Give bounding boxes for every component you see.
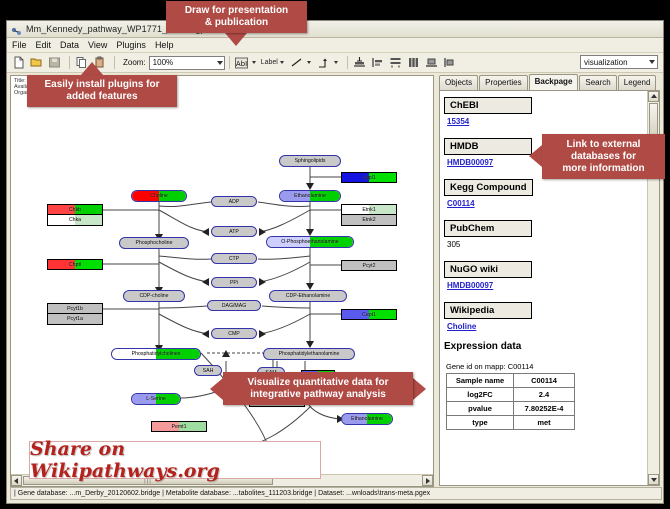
node-cdp-choline[interactable]: CDP-choline: [123, 290, 185, 302]
callout-plugins-line2: added features: [66, 91, 137, 103]
toolbar-separator-3: [229, 56, 230, 69]
node-label: Choline: [150, 193, 168, 199]
chevron-down-icon[interactable]: [649, 60, 655, 64]
node-pcyt1b[interactable]: Pcyt1b: [47, 303, 103, 314]
interaction-tool-group[interactable]: [316, 55, 338, 70]
chevron-down-icon[interactable]: [217, 61, 223, 65]
node-etnk2[interactable]: Etnk2: [341, 215, 397, 226]
table-row: Sample name C00114: [447, 374, 575, 388]
callout-draw-arrow: [225, 33, 247, 46]
zoom-label: Zoom:: [123, 58, 146, 67]
callout-draw: Draw for presentation & publication: [166, 1, 307, 33]
toolbar-separator-2: [114, 56, 115, 69]
align-center-icon[interactable]: [352, 55, 367, 70]
label-tool-label: Label: [261, 59, 278, 66]
node-sah[interactable]: SAH: [194, 365, 222, 376]
pathway-canvas[interactable]: Title: Availa Organi: [10, 75, 434, 487]
menu-item-data[interactable]: Data: [60, 40, 79, 50]
callout-plugins-line1: Easily install plugins for: [44, 79, 159, 91]
node-ppi[interactable]: PPi: [211, 277, 257, 288]
node-label: SAH: [203, 368, 214, 374]
node-label: Phosphatidylethanolamine: [279, 351, 340, 357]
cell-value: met: [514, 416, 575, 430]
node-label: L-Serine: [146, 396, 166, 402]
pathvisio-icon: [11, 24, 22, 35]
tab-backpage[interactable]: Backpage: [529, 74, 579, 90]
callout-draw-line1: Draw for presentation: [185, 5, 288, 17]
link-chebi[interactable]: 15354: [447, 117, 644, 126]
pathway-drawing: Title: Availa Organi: [11, 76, 433, 486]
cell-key: pvalue: [447, 402, 514, 416]
align-widths-icon[interactable]: [406, 55, 421, 70]
node-label: Pemt1: [172, 424, 187, 430]
node-label: Pcyt1b: [67, 306, 83, 312]
callout-plugins-arrow: [81, 62, 103, 75]
table-row: log2FC 2.4: [447, 388, 575, 402]
node-choline[interactable]: Choline: [131, 190, 187, 202]
scroll-up-arrow[interactable]: [648, 91, 659, 102]
value-pubchem: 305: [447, 240, 644, 249]
node-label: CTP: [229, 256, 239, 262]
callout-link-line1: Link to external: [567, 139, 641, 151]
callout-draw-line2: & publication: [205, 17, 268, 29]
zoom-input[interactable]: 100%: [149, 56, 225, 70]
node-adp[interactable]: ADP: [211, 196, 257, 207]
node-atp[interactable]: ATP: [211, 226, 257, 237]
status-text: | Gene database: ...m_Derby_20120602.bri…: [14, 490, 430, 497]
node-label: ADP: [229, 199, 240, 205]
node-pcyt1a[interactable]: Pcyt1a: [47, 314, 103, 325]
interaction-tool-icon[interactable]: [316, 55, 331, 70]
node-label: CMP: [228, 331, 240, 337]
distribute-horizontal-icon[interactable]: [388, 55, 403, 70]
node-label: Phosphatidylcholines: [132, 351, 181, 357]
node-label: DAG/MAG: [222, 303, 247, 309]
callout-share-text: Share on Wikipathways.org: [30, 438, 320, 482]
node-l-serine-left[interactable]: L-Serine: [131, 393, 181, 405]
callout-share: Share on Wikipathways.org: [29, 441, 321, 479]
node-label: Ethanolamine: [351, 416, 383, 422]
cell-key: Sample name: [447, 374, 514, 388]
link-nugo-wiki[interactable]: HMDB00097: [447, 281, 644, 290]
section-header-kegg-compound: Kegg Compound: [444, 179, 533, 196]
node-phosphatidylethanolamine[interactable]: Phosphatidylethanolamine: [263, 348, 355, 360]
save-icon[interactable]: [47, 55, 62, 70]
label-tool-group[interactable]: Label: [261, 59, 284, 66]
menu-item-help[interactable]: Help: [155, 40, 174, 50]
toolbar-separator-1: [69, 56, 70, 69]
chevron-down-icon[interactable]: [280, 61, 284, 64]
text-tool-group[interactable]: AbI: [234, 55, 256, 70]
toolbar: Zoom: 100% AbI Label: [7, 53, 663, 73]
node-label: CDP-Ethanolamine: [286, 293, 330, 299]
tab-objects[interactable]: Objects: [439, 75, 478, 90]
node-etnk1[interactable]: Etnk1: [341, 204, 397, 215]
chevron-down-icon[interactable]: [252, 61, 256, 64]
callout-link-arrow: [529, 145, 542, 167]
status-bar: | Gene database: ...m_Derby_20120602.bri…: [10, 487, 662, 500]
node-label: Chka: [69, 217, 81, 223]
zoom-value: 100%: [153, 58, 173, 67]
callout-quant-arrow-right: [413, 378, 426, 400]
node-pemt1[interactable]: Pemt1: [151, 421, 207, 432]
open-folder-icon[interactable]: [29, 55, 44, 70]
cell-value: 2.4: [514, 388, 575, 402]
node-label: PPi: [230, 280, 238, 286]
table-row: type met: [447, 416, 575, 430]
table-row: pvalue 7.80252E-4: [447, 402, 575, 416]
section-header-wikipedia: Wikipedia: [444, 302, 532, 319]
tab-search[interactable]: Search: [579, 75, 616, 90]
menu-item-plugins[interactable]: Plugins: [116, 40, 146, 50]
callout-quant-line2: integrative pathway analysis: [250, 389, 386, 401]
node-cmp[interactable]: CMP: [211, 328, 257, 339]
node-ethanolamine[interactable]: Ethanolamine: [279, 190, 341, 202]
section-header-hmdb: HMDB: [444, 138, 532, 155]
node-label: ATP: [229, 229, 239, 235]
chevron-down-icon[interactable]: [307, 61, 311, 64]
link-kegg-compound[interactable]: C00114: [447, 199, 644, 208]
link-wikipedia[interactable]: Choline: [447, 322, 644, 331]
node-label: Pcyt1a: [67, 316, 83, 322]
node-label: Chkb: [69, 207, 81, 213]
node-pcyt2[interactable]: Pcyt2: [341, 260, 397, 271]
callout-link-line2: databases for: [571, 151, 636, 163]
node-sphingolipids[interactable]: Sphingolipids: [279, 155, 341, 167]
node-dag-mag[interactable]: DAG/MAG: [207, 300, 261, 311]
new-file-icon[interactable]: [11, 55, 26, 70]
scroll-down-arrow[interactable]: [648, 474, 659, 485]
title-bar: Mm_Kennedy_pathway_WP1771_45176.gpml: [7, 21, 663, 38]
node-label: Ethanolamine: [294, 193, 326, 199]
tab-properties[interactable]: Properties: [479, 75, 527, 90]
node-label: O-Phosphoethanolamine: [281, 239, 338, 245]
node-label: Cept1: [362, 312, 376, 318]
toolbar-separator-4: [347, 56, 348, 69]
callout-quant-line1: Visualize quantitative data for: [248, 377, 389, 389]
scroll-left-arrow[interactable]: [11, 475, 22, 486]
application-window: Mm_Kennedy_pathway_WP1771_45176.gpml Fil…: [6, 20, 664, 504]
node-label: Sgpl1: [362, 175, 375, 181]
node-ethanolamine-right[interactable]: Ethanolamine: [341, 413, 393, 425]
callout-quant: Visualize quantitative data for integrat…: [223, 372, 413, 405]
align-bottom-icon[interactable]: [424, 55, 439, 70]
node-chptl[interactable]: Chptl: [47, 259, 103, 270]
callout-link: Link to external databases for more info…: [542, 134, 665, 179]
node-sgpl1[interactable]: Sgpl1: [341, 172, 397, 183]
visualization-value: visualization: [584, 58, 628, 67]
node-phosphocholine[interactable]: Phosphocholine: [119, 237, 189, 249]
node-label: Etnk1: [362, 207, 375, 213]
menu-item-view[interactable]: View: [88, 40, 107, 50]
side-panel-tabs: Objects Properties Backpage Search Legen…: [439, 75, 657, 90]
line-tool-group[interactable]: [289, 55, 311, 70]
node-chka[interactable]: Chka: [47, 215, 103, 226]
menu-bar: File Edit Data View Plugins Help: [7, 38, 663, 53]
node-label: CDP-choline: [139, 293, 168, 299]
tab-legend[interactable]: Legend: [618, 75, 657, 90]
section-header-pubchem: PubChem: [444, 220, 532, 237]
visualization-select[interactable]: visualization: [580, 55, 658, 69]
node-o-phosphoethanolamine[interactable]: O-Phosphoethanolamine: [266, 236, 354, 248]
section-header-chebi: ChEBI: [444, 97, 532, 114]
node-label: Pcyt2: [363, 263, 376, 269]
callout-quant-arrow-left: [210, 378, 223, 400]
cell-value: C00114: [514, 374, 575, 388]
scroll-right-arrow[interactable]: [422, 475, 433, 486]
align-right-icon[interactable]: [442, 55, 457, 70]
align-left-icon[interactable]: [370, 55, 385, 70]
line-tool-icon[interactable]: [289, 55, 304, 70]
section-header-nugo-wiki: NuGO wiki: [444, 261, 532, 278]
expression-data-heading: Expression data: [444, 341, 644, 352]
cell-key: type: [447, 416, 514, 430]
callout-link-line3: more information: [562, 163, 644, 175]
svg-text:AbI: AbI: [236, 60, 247, 68]
menu-item-edit[interactable]: Edit: [36, 40, 52, 50]
node-cept1[interactable]: Cept1: [341, 309, 397, 320]
node-label: Sphingolipids: [295, 158, 326, 164]
chevron-down-icon[interactable]: [334, 61, 338, 64]
node-phosphatidylcholines[interactable]: Phosphatidylcholines: [111, 348, 201, 360]
cell-key: log2FC: [447, 388, 514, 402]
menu-item-file[interactable]: File: [12, 40, 27, 50]
node-label: Chptl: [69, 262, 81, 268]
node-label: Phosphocholine: [136, 240, 173, 246]
gene-id-on-mapp: Gene id on mapp: C00114: [446, 362, 644, 371]
expression-table: Sample name C00114 log2FC 2.4 pvalue 7.8…: [446, 373, 575, 430]
text-tool-icon[interactable]: AbI: [234, 55, 249, 70]
node-ctp[interactable]: CTP: [211, 253, 257, 264]
callout-plugins: Easily install plugins for added feature…: [27, 75, 177, 107]
node-chkb[interactable]: Chkb: [47, 204, 103, 215]
node-cdp-ethanolamine[interactable]: CDP-Ethanolamine: [269, 290, 347, 302]
cell-value: 7.80252E-4: [514, 402, 575, 416]
node-label: Etnk2: [362, 217, 375, 223]
